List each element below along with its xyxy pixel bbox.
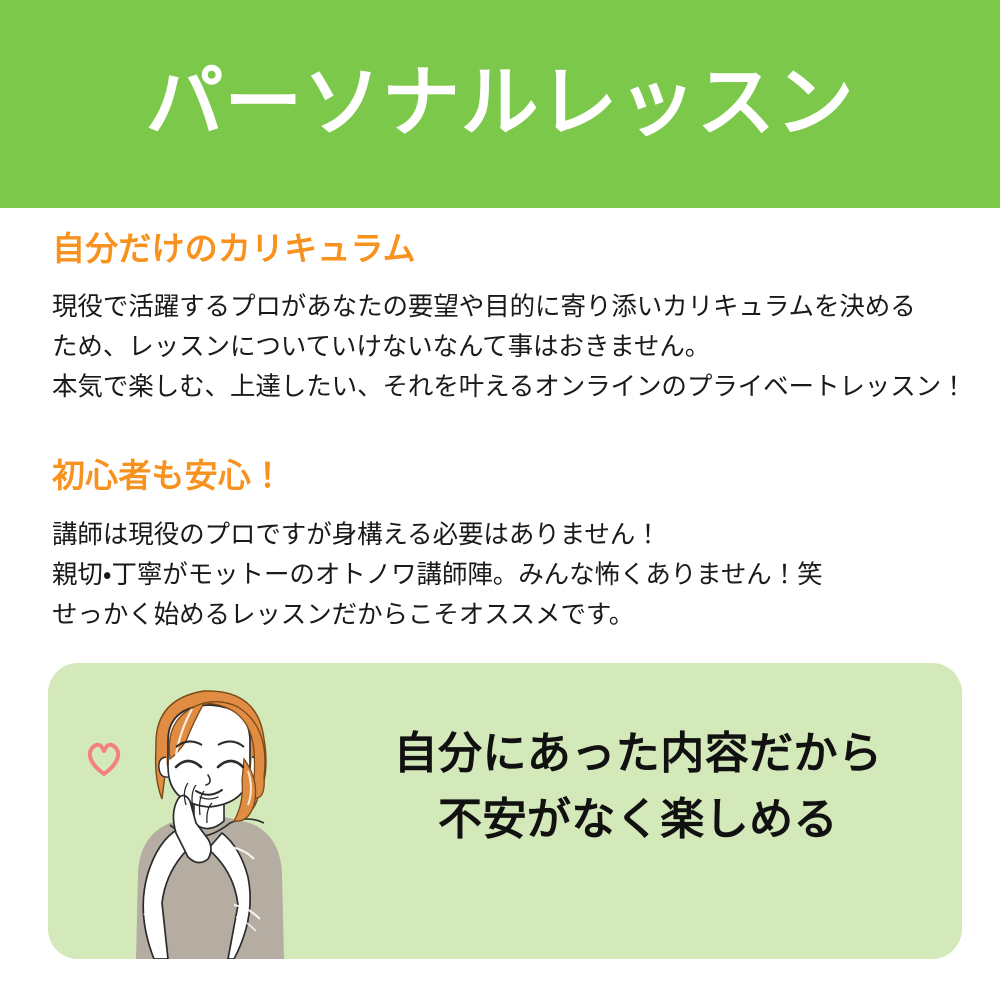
section-heading: 初心者も安心！ — [52, 455, 952, 496]
page-title: パーソナルレッスン — [145, 63, 854, 141]
section-beginner: 初心者も安心！ 講師は現役のプロですが身構える必要はありません！ 親切・丁寧がモ… — [52, 455, 952, 634]
promo-line: 自分にあった内容だから — [348, 721, 928, 787]
page-root: パーソナルレッスン 自分だけのカリキュラム 現役で活躍するプロがあなたの要望や目… — [0, 0, 1000, 1000]
body-line: 本気で楽しむ、上達したい、それを叶えるオンラインのプライベートレッスン！ — [52, 367, 952, 407]
section-body: 講師は現役のプロですが身構える必要はありません！ 親切・丁寧がモットーのオトノワ… — [52, 515, 952, 635]
section-divider-space — [52, 407, 952, 455]
header-banner: パーソナルレッスン — [0, 0, 1000, 208]
body-line: 現役で活躍するプロがあなたの要望や目的に寄り添いカリキュラムを決める — [52, 287, 952, 327]
section-body: 現役で活躍するプロがあなたの要望や目的に寄り添いカリキュラムを決める ため、レッ… — [52, 287, 952, 407]
promo-text: 自分にあった内容だから 不安がなく楽しめる — [348, 721, 928, 853]
section-curriculum: 自分だけのカリキュラム 現役で活躍するプロがあなたの要望や目的に寄り添いカリキュ… — [52, 228, 952, 407]
body-line: 親切・丁寧がモットーのオトノワ講師陣。みんな怖くありません！笑 — [52, 555, 952, 595]
promo-card: 自分にあった内容だから 不安がなく楽しめる — [48, 663, 962, 959]
heart-icon — [84, 739, 124, 779]
body-line: 講師は現役のプロですが身構える必要はありません！ — [52, 515, 952, 555]
promo-line: 不安がなく楽しめる — [348, 787, 928, 853]
body-line: せっかく始めるレッスンだからこそオススメです。 — [52, 595, 952, 635]
body-line: ため、レッスンについていけないなんて事はおきません。 — [52, 327, 952, 367]
content-area: 自分だけのカリキュラム 現役で活躍するプロがあなたの要望や目的に寄り添いカリキュ… — [52, 228, 952, 635]
section-heading: 自分だけのカリキュラム — [52, 228, 952, 269]
woman-illustration — [58, 663, 358, 959]
